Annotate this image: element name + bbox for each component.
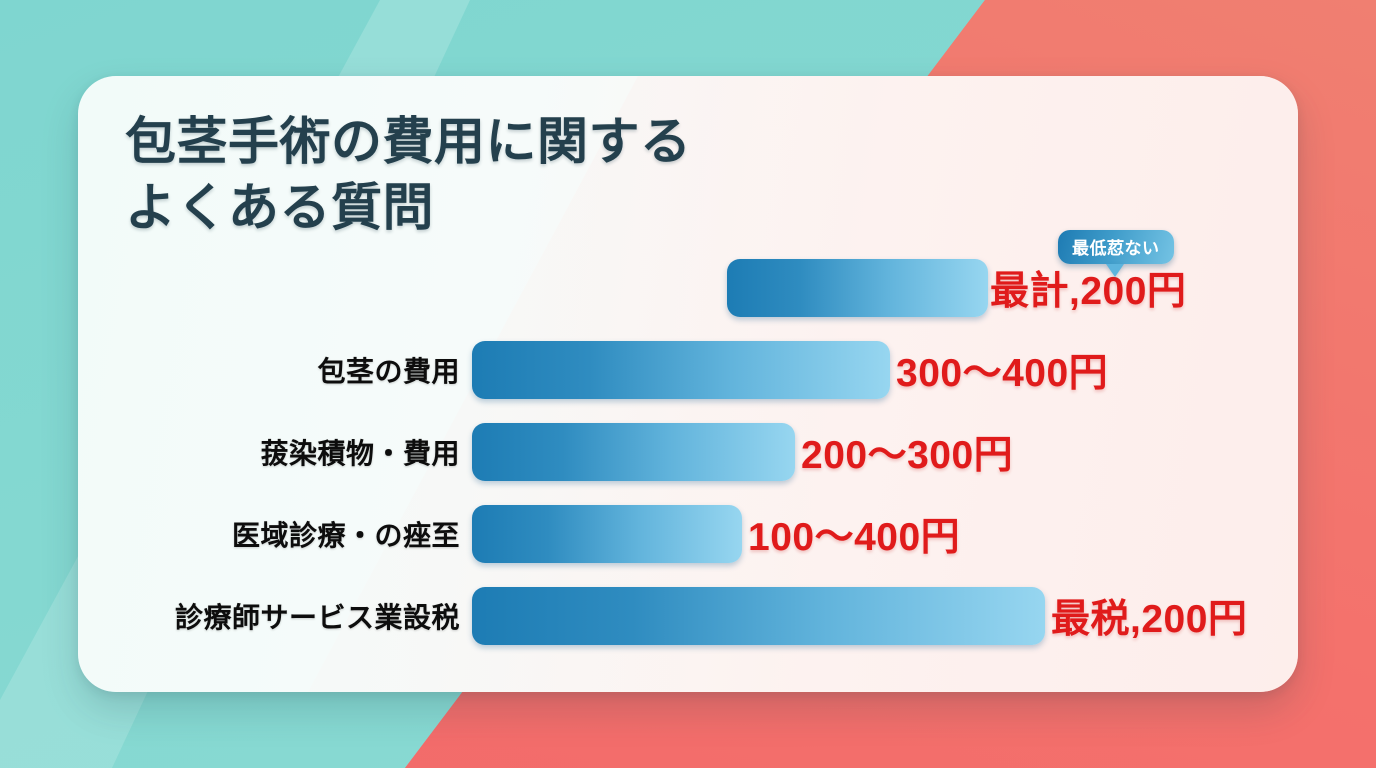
- chart-row: 診療師サービス業設税最税,200円: [78, 586, 1298, 646]
- bar-category-label: 医域診療・の痤至: [78, 514, 460, 554]
- bar-value-label: 最計,200円: [990, 260, 1186, 316]
- badge-pointer-icon: [1106, 264, 1124, 277]
- bar-value-label: 300〜400円: [896, 342, 1108, 398]
- bar-value-label: 100〜400円: [748, 506, 960, 562]
- infographic-canvas: 包茎手術の費用に関する よくある質問 最計,200円包茎の費用300〜400円菝…: [0, 0, 1376, 768]
- badge-label: 最低荵ない: [1058, 230, 1174, 264]
- bar: [472, 505, 742, 563]
- bar: [472, 587, 1045, 645]
- bar-category-label: 診療師サービス業設税: [78, 596, 460, 636]
- chart-row: 医域診療・の痤至100〜400円: [78, 504, 1298, 564]
- chart-row: 菝染積物・費用200〜300円: [78, 422, 1298, 482]
- bar-category-label: 包茎の費用: [78, 350, 460, 390]
- page-title: 包茎手術の費用に関する よくある質問: [125, 109, 692, 242]
- bar: [472, 341, 890, 399]
- bar-category-label: 菝染積物・費用: [78, 432, 460, 472]
- badge-callout: 最低荵ない: [1058, 230, 1174, 264]
- bar: [472, 423, 795, 481]
- bar-value-label: 200〜300円: [801, 424, 1013, 480]
- bar: [727, 259, 988, 317]
- chart-row: 包茎の費用300〜400円: [78, 340, 1298, 400]
- content-card: 包茎手術の費用に関する よくある質問 最計,200円包茎の費用300〜400円菝…: [78, 76, 1298, 692]
- bar-value-label: 最税,200円: [1051, 588, 1247, 644]
